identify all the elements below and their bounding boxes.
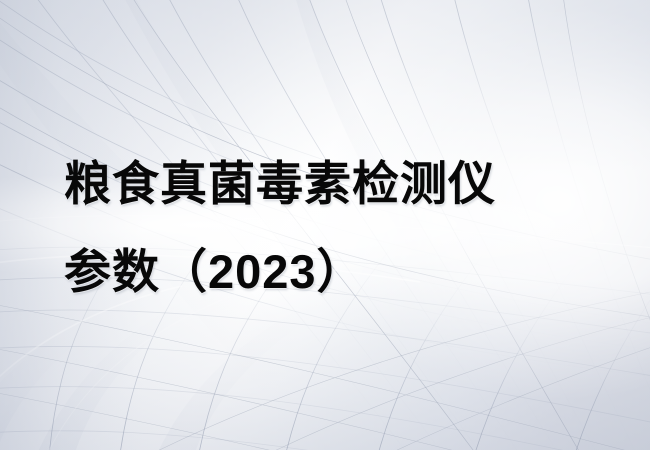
page-title-line-1: 粮食真菌毒素检测仪 <box>64 140 496 228</box>
page-title: 粮食真菌毒素检测仪 参数（2023） <box>64 140 496 316</box>
product-title-banner: 粮食真菌毒素检测仪 参数（2023） <box>0 0 650 450</box>
page-title-line-2: 参数（2023） <box>64 228 496 316</box>
